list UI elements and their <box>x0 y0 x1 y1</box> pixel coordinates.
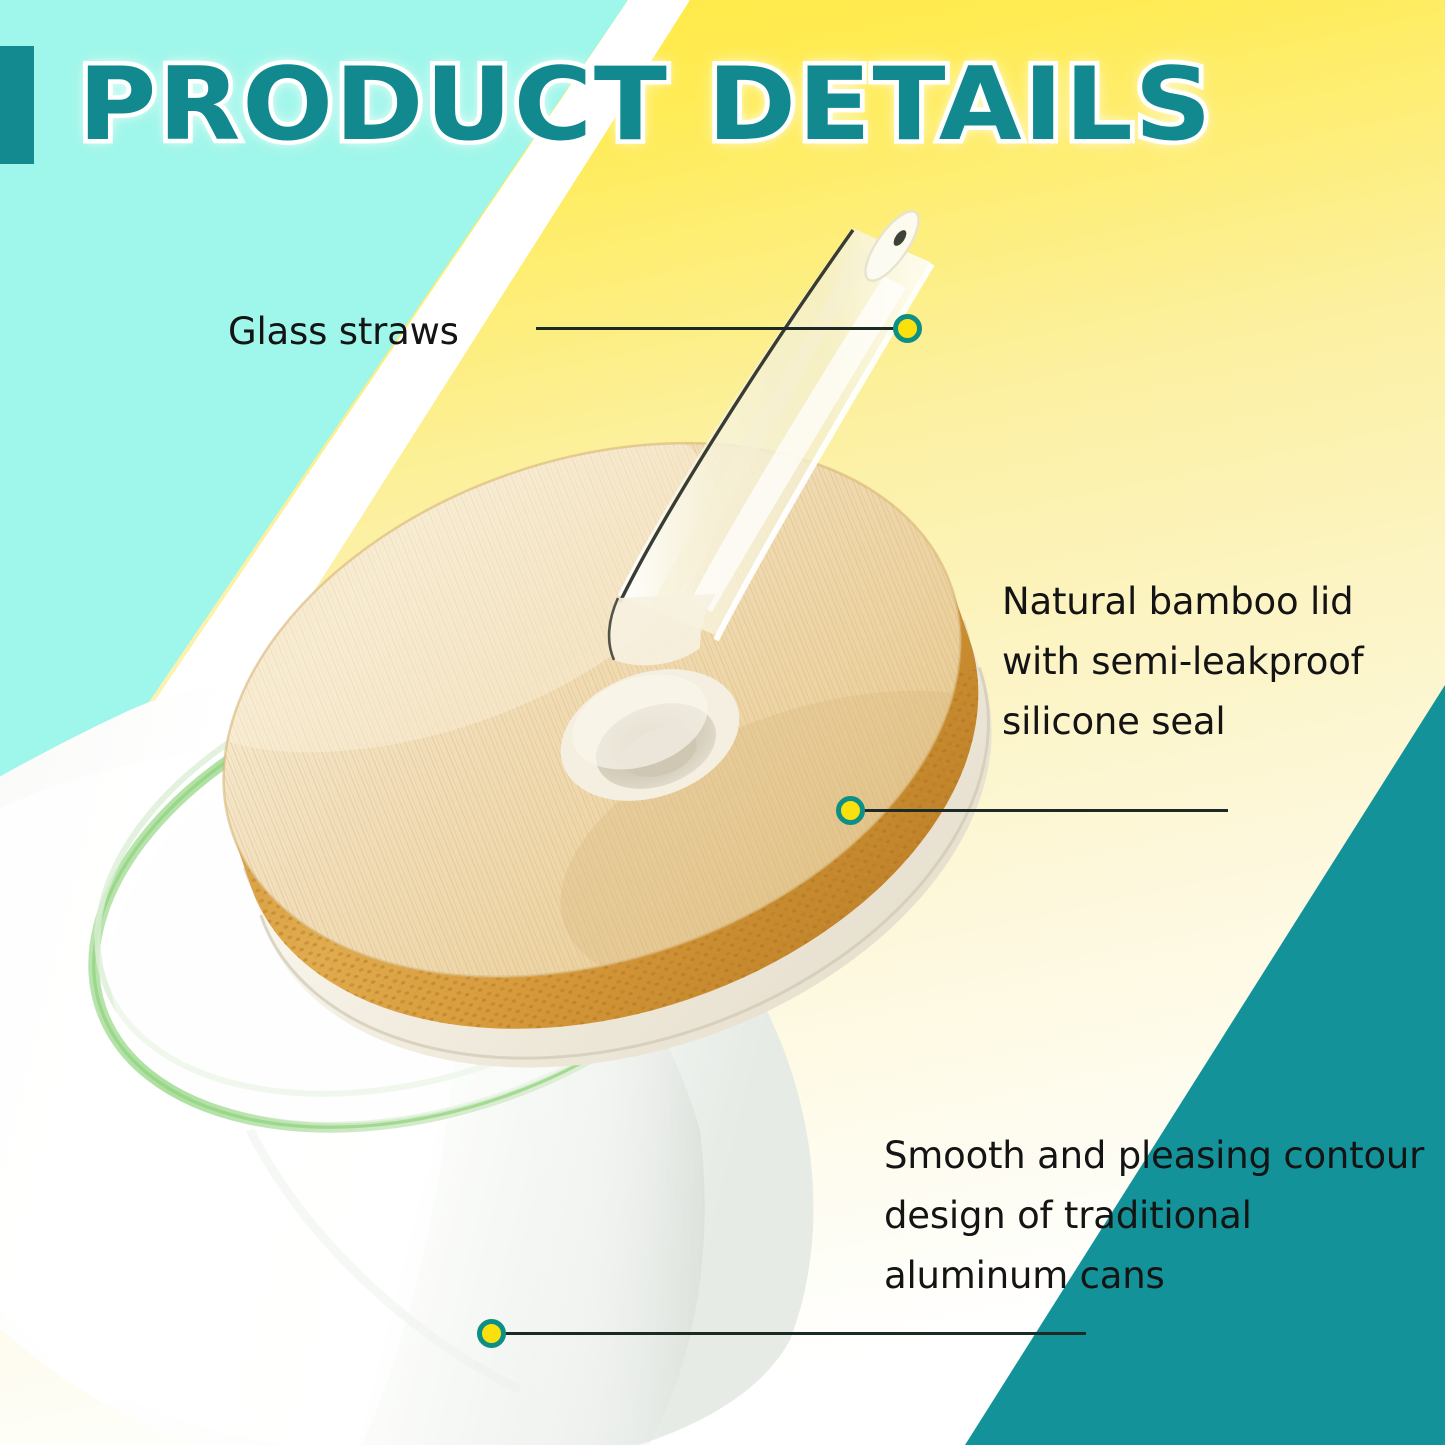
page-title: PRODUCT DETAILS <box>78 48 1213 161</box>
title-accent-bar <box>0 46 34 164</box>
leader-line-contour-design <box>500 1332 1086 1335</box>
callout-marker-contour-design[interactable] <box>477 1319 506 1348</box>
callout-label-bamboo-lid: Natural bamboo lid with semi-leakproof s… <box>1002 572 1422 752</box>
callout-label-contour-design: Smooth and pleasing contour design of tr… <box>884 1126 1432 1306</box>
leader-line-bamboo-lid <box>860 809 1228 812</box>
callout-label-glass-straws: Glass straws <box>228 302 459 362</box>
leader-line-glass-straws <box>536 327 898 330</box>
infographic-canvas: PRODUCT DETAILS Glass straws Natural bam… <box>0 0 1445 1445</box>
callout-marker-bamboo-lid[interactable] <box>836 796 865 825</box>
callout-marker-glass-straws[interactable] <box>893 314 922 343</box>
